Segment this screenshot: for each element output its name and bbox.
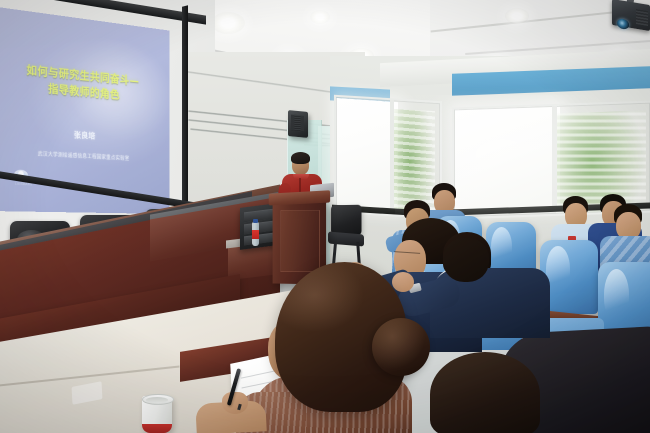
presenter-hair xyxy=(291,152,310,164)
podium-front-panel xyxy=(280,210,320,272)
mug-base-stripe xyxy=(142,424,172,433)
downlight-icon xyxy=(310,10,330,24)
downlight-icon xyxy=(211,12,245,34)
lecture-room-photo: 如何与研究生共同奋斗— 指导教师的角色 张良培 武汉大学测绘遥感信息工程国家重点… xyxy=(0,0,650,433)
bottle-label xyxy=(252,230,259,239)
window-mullion xyxy=(552,106,557,212)
slide-affiliation: 武汉大学测绘遥感信息工程国家重点实验室 xyxy=(0,147,170,164)
bottle-cap xyxy=(253,219,258,223)
mug-interior xyxy=(146,397,168,403)
note-taker-hand xyxy=(222,392,248,414)
slide-surface: 如何与研究生共同奋斗— 指导教师的角色 张良培 武汉大学测绘遥感信息工程国家重点… xyxy=(0,6,170,214)
speaker-grille xyxy=(291,114,304,131)
note-taker-hair-bun xyxy=(372,318,430,376)
downlight-icon xyxy=(505,8,529,24)
presenter-placket xyxy=(299,178,301,192)
window-frame xyxy=(334,95,442,220)
note-taker-2-hand xyxy=(392,272,414,292)
projection-screen: 如何与研究生共同奋斗— 指导教师的角色 张良培 武汉大学测绘遥感信息工程国家重点… xyxy=(0,6,170,214)
note-taker-2-head xyxy=(443,238,489,282)
screen-right-edge xyxy=(182,5,188,203)
empty-office-chair xyxy=(331,205,361,236)
attendee-hair-foreground xyxy=(430,352,540,433)
window-mullion xyxy=(390,100,394,212)
projector-vent xyxy=(636,9,648,26)
